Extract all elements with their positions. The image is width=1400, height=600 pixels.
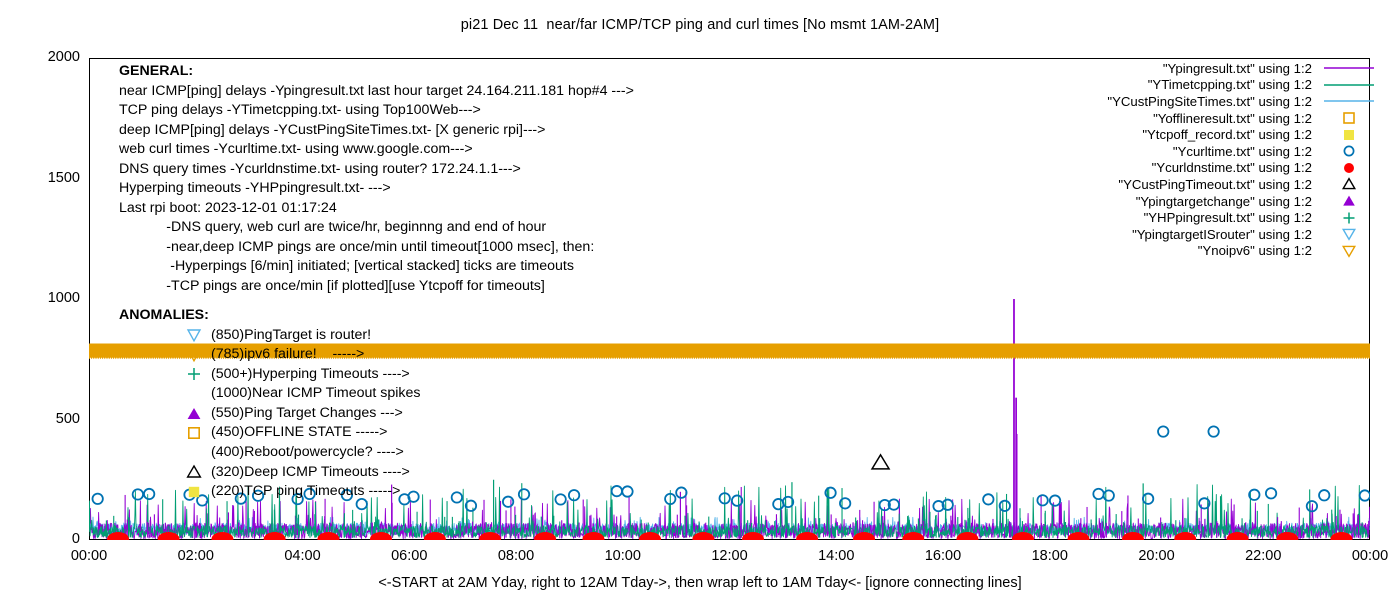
- tri-open-black-icon: [185, 463, 211, 481]
- x-tick-1400-7: 14:00: [803, 548, 869, 564]
- anomaly-label: (450)OFFLINE STATE ----->: [211, 423, 387, 443]
- general-annotation-block: GENERAL: near ICMP[ping] delays -Ypingre…: [119, 62, 634, 296]
- legend-label: "YTimetcpping.txt" using 1:2: [986, 77, 1322, 92]
- filled-triangle-purple-icon: [1322, 193, 1376, 209]
- general-line: TCP ping delays -YTimetcpping.txt- using…: [119, 101, 634, 121]
- anomaly-label: (220)TCP ping Timeouts ----->: [211, 482, 400, 502]
- legend-row: "Ypingtargetchange" using 1:2: [986, 193, 1376, 210]
- anomaly-label: (500+)Hyperping Timeouts ---->: [211, 365, 410, 385]
- anomaly-item: (500+)Hyperping Timeouts ---->: [119, 365, 420, 385]
- near-icmp-timeout-spike: [1014, 299, 1017, 540]
- legend-row: "YCustPingTimeout.txt" using 1:2: [986, 176, 1376, 193]
- x-tick-0000-12: 00:00: [1337, 548, 1400, 564]
- general-line: near ICMP[ping] delays -Ypingresult.txt …: [119, 82, 634, 102]
- dtri-open-orange-icon: [185, 346, 211, 364]
- x-tick-0000-0: 00:00: [56, 548, 122, 564]
- chart-title: pi21 Dec 11 near/far ICMP/TCP ping and c…: [0, 17, 1400, 33]
- plus-green-icon: [1322, 210, 1376, 226]
- filled-square-yellow-icon: [1322, 127, 1376, 143]
- y-tick-2000: 2000: [34, 49, 80, 65]
- legend-row: "YTimetcpping.txt" using 1:2: [986, 77, 1376, 94]
- anomaly-item: (1000)Near ICMP Timeout spikes: [119, 384, 420, 404]
- anomaly-label: (1000)Near ICMP Timeout spikes: [211, 384, 420, 404]
- anomaly-label: (320)Deep ICMP Timeouts ---->: [211, 463, 410, 483]
- anomaly-item: (785)ipv6 failure! ----->: [119, 345, 420, 365]
- anomaly-label: (400)Reboot/powercycle? ---->: [211, 443, 404, 463]
- anomaly-item: (550)Ping Target Changes --->: [119, 404, 420, 424]
- general-line: deep ICMP[ping] delays -YCustPingSiteTim…: [119, 121, 634, 141]
- x-tick-0800-4: 08:00: [483, 548, 549, 564]
- anomaly-item: (850)PingTarget is router!: [119, 326, 420, 346]
- x-tick-0200-1: 02:00: [163, 548, 229, 564]
- no-marker: [185, 444, 211, 462]
- y-tick-1000: 1000: [34, 290, 80, 306]
- legend-label: "YCustPingSiteTimes.txt" using 1:2: [986, 94, 1322, 109]
- legend-row: "Ytcpoff_record.txt" using 1:2: [986, 126, 1376, 143]
- line-purple-icon: [1322, 60, 1376, 76]
- x-tick-0600-3: 06:00: [376, 548, 442, 564]
- square-fill-yellow-icon: [185, 483, 211, 501]
- square-open-orange-icon: [185, 424, 211, 442]
- anomaly-item: (450)OFFLINE STATE ----->: [119, 423, 420, 443]
- anomalies-heading: ANOMALIES:: [119, 306, 420, 326]
- general-heading: GENERAL:: [119, 62, 634, 82]
- plus-green-icon: [185, 365, 211, 383]
- legend-label: "YpingtargetISrouter" using 1:2: [986, 227, 1322, 242]
- open-circle-blue-icon: [1322, 143, 1376, 159]
- anomaly-label: (550)Ping Target Changes --->: [211, 404, 403, 424]
- no-marker: [185, 385, 211, 403]
- x-tick-0400-2: 04:00: [270, 548, 336, 564]
- open-down-triangle-lightblue-icon: [1322, 226, 1376, 242]
- chart-legend: "Ypingresult.txt" using 1:2"YTimetcpping…: [986, 60, 1376, 259]
- legend-label: "Ycurltime.txt" using 1:2: [986, 144, 1322, 159]
- legend-label: "Ytcpoff_record.txt" using 1:2: [986, 127, 1322, 142]
- series-custpingtimeout-points: [872, 455, 889, 469]
- open-triangle-black-icon: [1322, 176, 1376, 192]
- anomaly-item: (220)TCP ping Timeouts ----->: [119, 482, 420, 502]
- chart-page: pi21 Dec 11 near/far ICMP/TCP ping and c…: [0, 0, 1400, 600]
- x-axis-caption: <-START at 2AM Yday, right to 12AM Tday-…: [0, 575, 1400, 591]
- open-down-triangle-orange-icon: [1322, 243, 1376, 259]
- legend-row: "Ycurltime.txt" using 1:2: [986, 143, 1376, 160]
- y-tick-1500: 1500: [34, 170, 80, 186]
- legend-row: "Ypingresult.txt" using 1:2: [986, 60, 1376, 77]
- anomaly-label: (850)PingTarget is router!: [211, 326, 371, 346]
- legend-row: "Ycurldnstime.txt" using 1:2: [986, 160, 1376, 177]
- x-tick-2200-11: 22:00: [1230, 548, 1296, 564]
- y-tick-500: 500: [34, 411, 80, 427]
- legend-row: "Ynoipv6" using 1:2: [986, 243, 1376, 260]
- legend-row: "YCustPingSiteTimes.txt" using 1:2: [986, 93, 1376, 110]
- legend-label: "Ypingresult.txt" using 1:2: [986, 61, 1322, 76]
- general-line: Hyperping timeouts -YHPpingresult.txt- -…: [119, 179, 634, 199]
- general-line: Last rpi boot: 2023-12-01 01:17:24: [119, 199, 634, 219]
- general-line: web curl times -Ycurltime.txt- using www…: [119, 140, 634, 160]
- legend-label: "Ypingtargetchange" using 1:2: [986, 194, 1322, 209]
- general-lines: near ICMP[ping] delays -Ypingresult.txt …: [119, 82, 634, 297]
- legend-label: "YHPpingresult.txt" using 1:2: [986, 210, 1322, 225]
- anomaly-item: (400)Reboot/powercycle? ---->: [119, 443, 420, 463]
- line-lightblue-icon: [1322, 93, 1376, 109]
- legend-row: "YpingtargetISrouter" using 1:2: [986, 226, 1376, 243]
- x-tick-2000-10: 20:00: [1124, 548, 1190, 564]
- legend-row: "Yofflineresult.txt" using 1:2: [986, 110, 1376, 127]
- legend-label: "Ynoipv6" using 1:2: [986, 243, 1322, 258]
- x-tick-1000-5: 10:00: [590, 548, 656, 564]
- anomalies-annotation-block: ANOMALIES: (850)PingTarget is router!(78…: [119, 306, 420, 502]
- y-tick-0: 0: [34, 531, 80, 547]
- open-square-orange-icon: [1322, 110, 1376, 126]
- filled-circle-red-icon: [1322, 160, 1376, 176]
- anomaly-lines: (850)PingTarget is router!(785)ipv6 fail…: [119, 326, 420, 502]
- x-tick-1800-9: 18:00: [1017, 548, 1083, 564]
- legend-row: "YHPpingresult.txt" using 1:2: [986, 209, 1376, 226]
- general-line: DNS query times -Ycurldnstime.txt- using…: [119, 160, 634, 180]
- x-tick-1600-8: 16:00: [910, 548, 976, 564]
- anomaly-label: (785)ipv6 failure! ----->: [211, 345, 364, 365]
- anomaly-item: (320)Deep ICMP Timeouts ---->: [119, 463, 420, 483]
- line-green-icon: [1322, 77, 1376, 93]
- dtri-open-lightblue-icon: [185, 326, 211, 344]
- general-line: -TCP pings are once/min [if plotted][use…: [119, 277, 634, 297]
- legend-label: "Ycurldnstime.txt" using 1:2: [986, 160, 1322, 175]
- general-line: -near,deep ICMP pings are once/min until…: [119, 238, 634, 258]
- general-line: -Hyperpings [6/min] initiated; [vertical…: [119, 257, 634, 277]
- tri-fill-purple-icon: [185, 405, 211, 423]
- y-axis-tick-labels: 0 500 1000 1500 2000: [34, 58, 80, 540]
- legend-label: "YCustPingTimeout.txt" using 1:2: [986, 177, 1322, 192]
- legend-label: "Yofflineresult.txt" using 1:2: [986, 111, 1322, 126]
- x-tick-1200-6: 12:00: [697, 548, 763, 564]
- general-line: -DNS query, web curl are twice/hr, begin…: [119, 218, 634, 238]
